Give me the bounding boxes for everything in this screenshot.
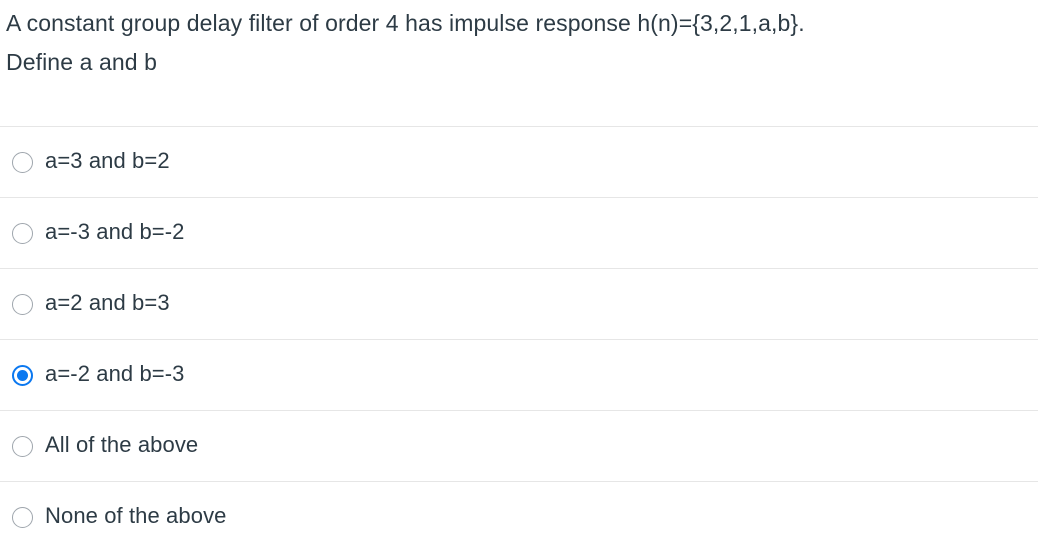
answer-option-1[interactable]: a=3 and b=2 [0, 126, 1043, 197]
radio-unselected-icon[interactable] [12, 507, 33, 528]
answer-option-2[interactable]: a=-3 and b=-2 [0, 197, 1043, 268]
radio-unselected-icon[interactable] [12, 152, 33, 173]
radio-unselected-icon[interactable] [12, 436, 33, 457]
answer-option-label: None of the above [45, 503, 227, 531]
question-text-line-1: A constant group delay filter of order 4… [6, 0, 1035, 43]
answer-option-5[interactable]: All of the above [0, 410, 1043, 481]
answer-option-4[interactable]: a=-2 and b=-3 [0, 339, 1043, 410]
answer-option-label: a=-2 and b=-3 [45, 361, 185, 389]
question-text-line-2: Define a and b [6, 43, 1035, 82]
answer-options-list: a=3 and b=2 a=-3 and b=-2 a=2 and b=3 a=… [0, 126, 1043, 552]
answer-option-label: a=2 and b=3 [45, 290, 170, 318]
answer-option-label: All of the above [45, 432, 198, 460]
radio-unselected-icon[interactable] [12, 294, 33, 315]
answer-option-label: a=3 and b=2 [45, 148, 170, 176]
radio-unselected-icon[interactable] [12, 223, 33, 244]
question-stem: A constant group delay filter of order 4… [0, 0, 1043, 82]
radio-selected-icon[interactable] [12, 365, 33, 386]
answer-option-6[interactable]: None of the above [0, 481, 1043, 552]
answer-option-3[interactable]: a=2 and b=3 [0, 268, 1043, 339]
answer-option-label: a=-3 and b=-2 [45, 219, 185, 247]
